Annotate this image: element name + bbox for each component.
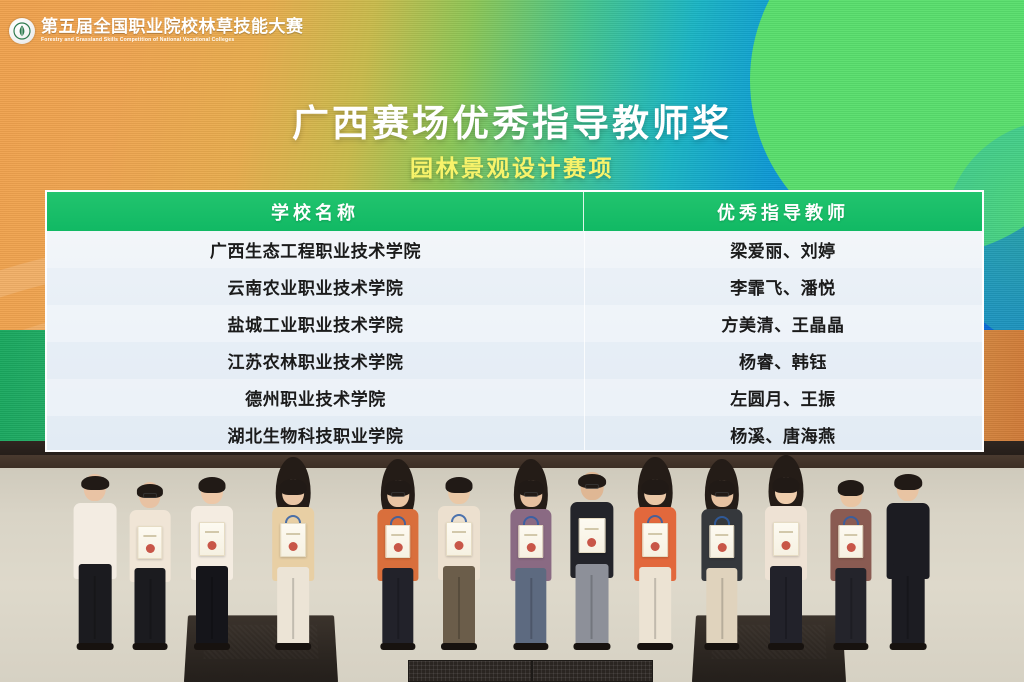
- cell-school: 广西生态工程职业技术学院: [47, 237, 584, 262]
- legs: [576, 564, 609, 644]
- table-header-row: 学校名称 优秀指导教师: [47, 192, 982, 231]
- legs: [134, 568, 165, 644]
- shoes: [513, 643, 548, 650]
- certificate: [838, 525, 863, 558]
- logo-title-en: Forestry and Grassland Skills Competitio…: [41, 38, 304, 43]
- award-title: 广西赛场优秀指导教师奖: [0, 93, 1024, 147]
- cell-teachers: 杨睿、韩钰: [584, 348, 982, 373]
- legs: [770, 566, 802, 644]
- hair-top: [642, 479, 669, 495]
- glasses: [715, 492, 729, 497]
- table-body: 广西生态工程职业技术学院梁爱丽、刘婷云南农业职业技术学院李霏飞、潘悦盐城工业职业…: [47, 231, 982, 452]
- shoes: [380, 643, 415, 650]
- person-4: [263, 447, 323, 650]
- shoes: [275, 643, 311, 650]
- table-header-teacher: 优秀指导教师: [584, 192, 982, 231]
- certificate-seal: [455, 541, 464, 550]
- cell-teachers: 梁爱丽、刘婷: [584, 237, 982, 262]
- certificate-seal: [146, 544, 155, 553]
- shoes: [704, 643, 739, 650]
- person-5: [368, 449, 428, 650]
- photo-scene: 第五届全国职业院校林草技能大赛 Forestry and Grassland S…: [0, 0, 1024, 682]
- award-subtitle: 园林景观设计赛项: [0, 149, 1024, 183]
- certificate: [642, 523, 668, 557]
- person-3: [182, 445, 242, 650]
- certificate-seal: [587, 538, 596, 547]
- person-11: [756, 445, 816, 650]
- person-10: [692, 449, 752, 650]
- person-12: [821, 449, 881, 650]
- certificate-seal: [394, 543, 403, 552]
- person-7: [501, 449, 561, 650]
- shoes: [890, 643, 927, 650]
- hair-top: [280, 479, 307, 495]
- legs: [515, 568, 546, 644]
- cell-school: 江苏农林职业技术学院: [47, 348, 584, 373]
- legs: [639, 567, 671, 644]
- glasses: [391, 492, 405, 497]
- legs: [382, 568, 413, 644]
- legs: [892, 564, 925, 644]
- certificate-seal: [527, 543, 536, 552]
- table-row: 江苏农林职业技术学院杨睿、韩钰: [47, 342, 982, 379]
- table-row: 云南农业职业技术学院李霏飞、潘悦: [47, 268, 982, 305]
- cell-school: 云南农业职业技术学院: [47, 274, 584, 299]
- cell-school: 盐城工业职业技术学院: [47, 311, 584, 336]
- cell-teachers: 李霏飞、潘悦: [584, 274, 982, 299]
- glasses: [143, 493, 157, 498]
- certificate-seal: [288, 542, 297, 551]
- certificate: [773, 522, 799, 556]
- shoes: [194, 643, 230, 650]
- certificate-seal: [718, 543, 727, 552]
- emblem-icon: [9, 18, 35, 44]
- glasses: [524, 492, 538, 497]
- hair-top: [446, 477, 473, 493]
- table-column-divider: [584, 231, 585, 452]
- shoes: [77, 643, 114, 650]
- hair-top: [773, 477, 800, 493]
- shoes: [441, 643, 477, 650]
- glasses: [585, 484, 599, 489]
- legs: [196, 566, 228, 644]
- certificate-seal: [208, 541, 217, 550]
- hair-top: [199, 477, 226, 493]
- hair-top: [81, 476, 109, 490]
- certificate: [137, 526, 162, 559]
- shoes: [637, 643, 673, 650]
- shoes: [133, 643, 168, 650]
- shoes: [573, 643, 610, 650]
- legs: [79, 564, 112, 644]
- certificate-seal: [782, 541, 791, 550]
- shoes: [768, 643, 804, 650]
- person-6: [429, 445, 489, 650]
- cell-teachers: 左圆月、王振: [584, 385, 982, 410]
- certificate: [385, 525, 410, 558]
- certificate: [280, 523, 306, 557]
- person-9: [625, 447, 685, 650]
- competition-logo: 第五届全国职业院校林草技能大赛 Forestry and Grassland S…: [9, 18, 304, 44]
- awards-table-panel: 学校名称 优秀指导教师 广西生态工程职业技术学院梁爱丽、刘婷云南农业职业技术学院…: [45, 190, 984, 452]
- cell-teachers: 方美清、王晶晶: [584, 311, 982, 336]
- stage-floor-grille: [408, 660, 653, 682]
- person-1: [65, 441, 125, 650]
- certificate-seal: [847, 543, 856, 552]
- award-recipients-group: [0, 425, 1024, 650]
- certificate: [199, 522, 225, 556]
- legs: [443, 566, 475, 644]
- person-2: [120, 451, 180, 650]
- table-row: 德州职业技术学院左圆月、王振: [47, 379, 982, 416]
- table-row: 广西生态工程职业技术学院梁爱丽、刘婷: [47, 231, 982, 268]
- person-13: [878, 441, 938, 650]
- legs: [706, 568, 737, 644]
- shoes: [833, 643, 868, 650]
- person-8: [562, 439, 622, 650]
- hair-top: [838, 480, 864, 496]
- certificate: [446, 522, 472, 556]
- certificate: [579, 518, 606, 553]
- logo-title-cn: 第五届全国职业院校林草技能大赛: [41, 18, 304, 35]
- certificate: [518, 525, 543, 558]
- table-row: 盐城工业职业技术学院方美清、王晶晶: [47, 305, 982, 342]
- certificate: [709, 525, 734, 558]
- legs: [835, 568, 866, 644]
- hair-top: [894, 474, 922, 490]
- legs: [277, 567, 309, 644]
- table-header-school: 学校名称: [47, 192, 584, 231]
- cell-school: 德州职业技术学院: [47, 385, 584, 410]
- certificate-seal: [650, 542, 659, 551]
